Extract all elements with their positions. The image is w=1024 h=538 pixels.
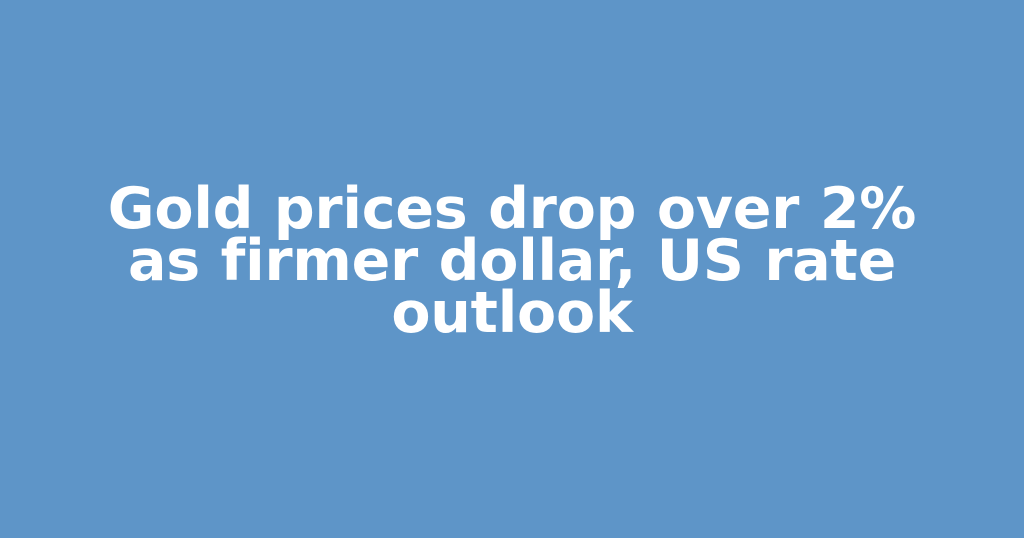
headline-block: Gold prices drop over 2% as firmer dolla…	[62, 183, 962, 339]
headline-text: Gold prices drop over 2% as firmer dolla…	[62, 183, 962, 339]
article-share-card: Gold prices drop over 2% as firmer dolla…	[0, 0, 1024, 538]
